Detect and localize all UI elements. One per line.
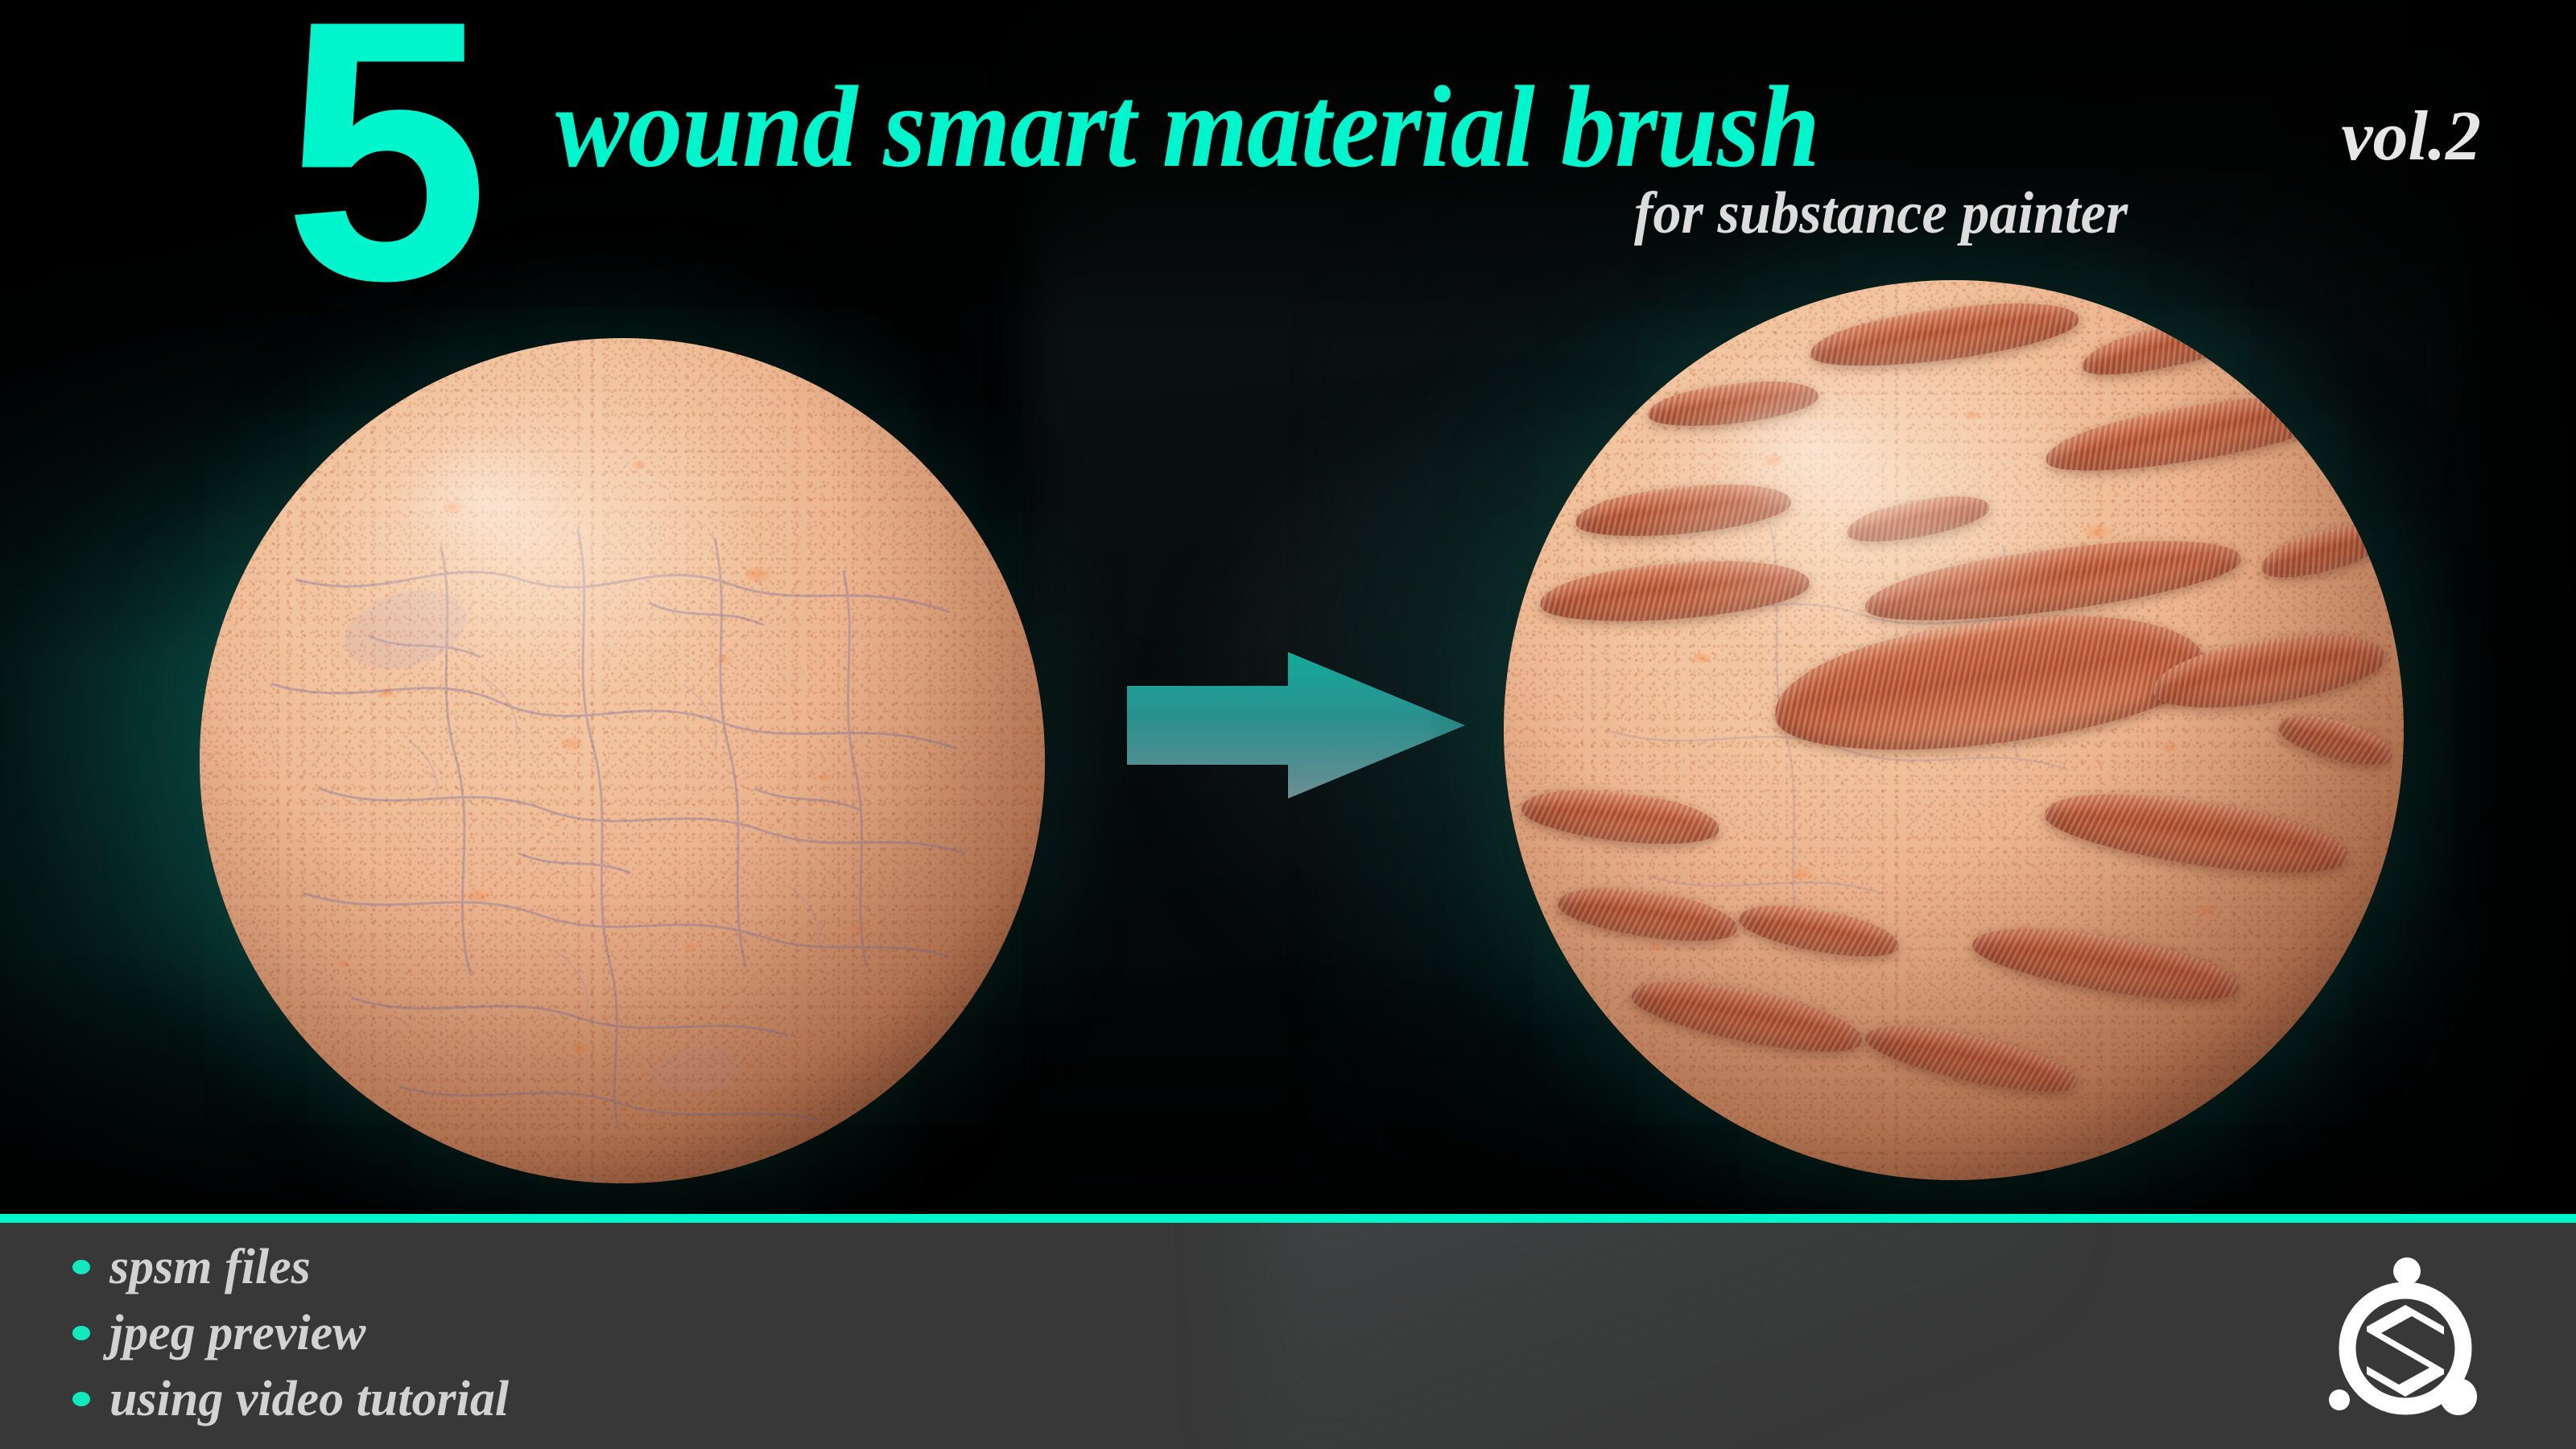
poster-canvas: 5 wound smart material brush vol.2 for s…: [0, 0, 2576, 1449]
volume-label: vol.2: [2341, 101, 2481, 172]
list-item-label: spsm files: [109, 1242, 311, 1292]
wounded-skin-sphere: [1504, 280, 2404, 1180]
substance-logo: [2309, 1252, 2483, 1426]
subtitle: for substance painter: [1634, 184, 2128, 243]
bullet-icon: [72, 1392, 90, 1406]
page-title: wound smart material brush: [555, 69, 1819, 186]
list-item-label: using video tutorial: [109, 1374, 509, 1424]
list-item: spsm files: [72, 1234, 509, 1300]
footer-bar: spsm files jpeg preview using video tuto…: [0, 1223, 2576, 1449]
feature-list: spsm files jpeg preview using video tuto…: [72, 1234, 509, 1432]
transform-arrow: [1127, 649, 1465, 802]
sphere-shading: [1504, 280, 2404, 1180]
clean-skin-sphere: [200, 338, 1045, 1183]
list-item: jpeg preview: [72, 1300, 509, 1366]
list-item: using video tutorial: [72, 1366, 509, 1432]
list-item-label: jpeg preview: [109, 1308, 366, 1358]
accent-divider: [0, 1214, 2576, 1223]
bullet-icon: [72, 1326, 90, 1340]
sphere-shading: [200, 338, 1045, 1183]
count-badge: 5: [283, 0, 481, 336]
bullet-icon: [72, 1260, 90, 1274]
footer-sheen: [1256, 1223, 2045, 1449]
